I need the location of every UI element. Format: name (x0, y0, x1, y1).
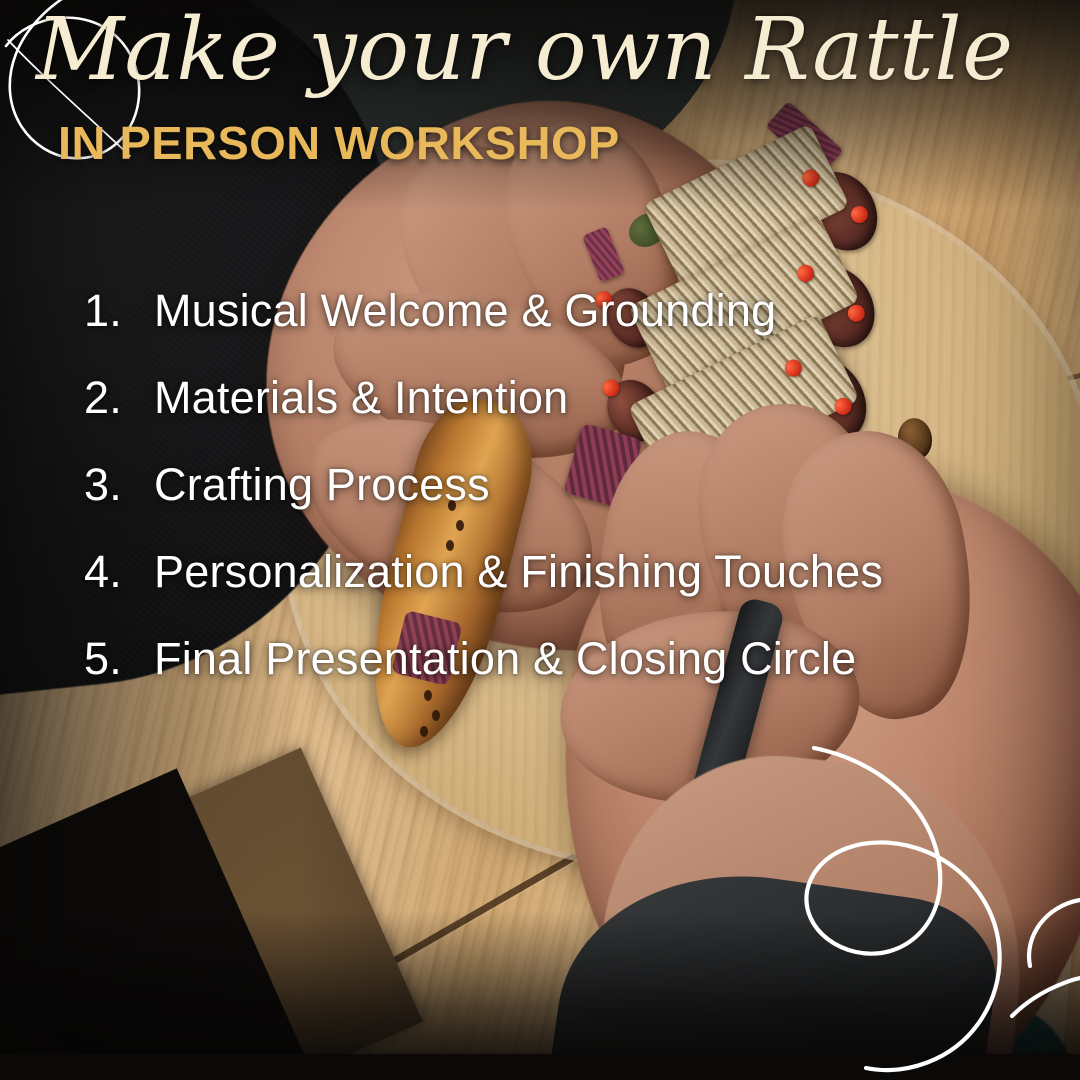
list-item: 1. Musical Welcome & Grounding (84, 288, 1014, 375)
text-layer: Make your own Rattle IN PERSON WORKSHOP … (0, 0, 1080, 1080)
list-item-number: 4. (84, 549, 136, 594)
list-item-label: Final Presentation & Closing Circle (154, 636, 856, 681)
agenda-list: 1. Musical Welcome & Grounding 2. Materi… (84, 288, 1014, 723)
list-item-label: Crafting Process (154, 462, 490, 507)
page-title: Make your own Rattle (36, 4, 936, 97)
list-item-number: 2. (84, 375, 136, 420)
page-subtitle: IN PERSON WORKSHOP (58, 116, 620, 170)
list-item-number: 1. (84, 288, 136, 333)
list-item-label: Materials & Intention (154, 375, 568, 420)
list-item-label: Musical Welcome & Grounding (154, 288, 776, 333)
list-item-number: 3. (84, 462, 136, 507)
workshop-poster: Make your own Rattle IN PERSON WORKSHOP … (0, 0, 1080, 1080)
list-item: 4. Personalization & Finishing Touches (84, 549, 1014, 636)
list-item: 5. Final Presentation & Closing Circle (84, 636, 1014, 723)
list-item-label: Personalization & Finishing Touches (154, 549, 883, 594)
list-item: 3. Crafting Process (84, 462, 1014, 549)
list-item: 2. Materials & Intention (84, 375, 1014, 462)
list-item-number: 5. (84, 636, 136, 681)
